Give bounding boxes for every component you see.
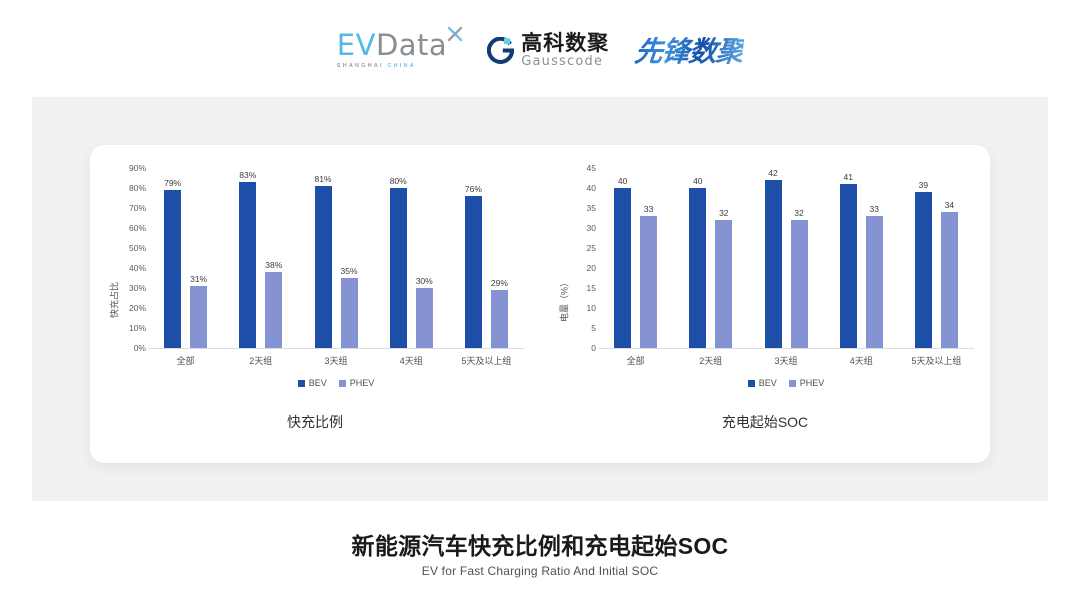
slide-page: EVData SHANGHAI CHINA 高科数聚 Gausscode xyxy=(0,0,1080,608)
chart-1-legend-item-bev[interactable]: BEV xyxy=(748,378,777,388)
chart-1-x-axis-line xyxy=(598,348,974,349)
chart-1-bar-value-label: 40 xyxy=(693,177,702,186)
chart-0-bar-rect[interactable] xyxy=(315,186,332,348)
chart-0-y-tick: 90% xyxy=(129,164,146,173)
chart-1-bar-group: 3934 xyxy=(899,168,974,348)
chart-1-bar-rect[interactable] xyxy=(640,216,657,348)
chart-0-bar-group: 81%35% xyxy=(298,168,373,348)
page-subtitle: EV for Fast Charging Ratio And Initial S… xyxy=(0,564,1080,578)
legend-swatch-icon xyxy=(298,380,305,387)
x-mark-icon xyxy=(447,26,463,42)
evdata-tagline: SHANGHAI CHINA xyxy=(337,64,416,70)
chart-1-x-tick: 全部 xyxy=(598,354,673,367)
chart-1-bar-rect[interactable] xyxy=(614,188,631,348)
chart-0-bar-bev[interactable]: 79% xyxy=(164,168,181,348)
chart-1-legend-label: BEV xyxy=(759,378,777,388)
chart-0-bar-value-label: 29% xyxy=(491,279,508,288)
evdata-wordmark: EVData xyxy=(337,31,447,60)
chart-initial-soc: 电量（%） 454035302520151050 403340324232413… xyxy=(540,150,990,450)
chart-0-bar-group: 79%31% xyxy=(148,168,223,348)
chart-0-bar-phev[interactable]: 35% xyxy=(341,168,358,348)
chart-0-legend-item-bev[interactable]: BEV xyxy=(298,378,327,388)
chart-0-y-tick: 10% xyxy=(129,324,146,333)
footer: 新能源汽车快充比例和充电起始SOC EV for Fast Charging R… xyxy=(0,533,1080,578)
chart-1-bar-value-label: 40 xyxy=(618,177,627,186)
evdata-data-text: Data xyxy=(376,28,447,62)
chart-1-bar-rect[interactable] xyxy=(765,180,782,348)
chart-0-y-tick: 70% xyxy=(129,204,146,213)
chart-0-bar-group: 83%38% xyxy=(223,168,298,348)
logo-bar: EVData SHANGHAI CHINA 高科数聚 Gausscode xyxy=(0,22,1080,78)
legend-swatch-icon xyxy=(748,380,755,387)
page-title: 新能源汽车快充比例和充电起始SOC xyxy=(0,533,1080,559)
legend-swatch-icon xyxy=(789,380,796,387)
gausscode-en-name: Gausscode xyxy=(521,55,603,68)
chart-1-bar-value-label: 32 xyxy=(794,209,803,218)
evdata-tagline-country: CHINA xyxy=(387,63,415,69)
chart-0-x-tick: 2天组 xyxy=(223,354,298,367)
chart-1-bar-value-label: 39 xyxy=(919,181,928,190)
chart-1-bar-rect[interactable] xyxy=(791,220,808,348)
chart-0-y-tick: 0% xyxy=(134,344,146,353)
chart-1-y-tick: 15 xyxy=(587,284,596,293)
chart-0-legend-label: BEV xyxy=(309,378,327,388)
chart-1-bar-bev[interactable]: 40 xyxy=(614,168,631,348)
chart-1-bar-group: 4133 xyxy=(824,168,899,348)
chart-0-bar-value-label: 38% xyxy=(265,261,282,270)
chart-1-bar-bev[interactable]: 42 xyxy=(765,168,782,348)
chart-0-bar-value-label: 83% xyxy=(239,171,256,180)
chart-1-bar-group: 4033 xyxy=(598,168,673,348)
charts-row: 快充占比 90%80%70%60%50%40%30%20%10%0% 79%31… xyxy=(90,150,990,450)
chart-1-plot-area: 40334032423241333934 xyxy=(598,168,974,348)
chart-0-bar-value-label: 79% xyxy=(164,179,181,188)
chart-0-bar-rect[interactable] xyxy=(164,190,181,348)
chart-1-bar-phev[interactable]: 33 xyxy=(866,168,883,348)
chart-1-bar-bev[interactable]: 39 xyxy=(915,168,932,348)
chart-0-y-tick: 30% xyxy=(129,284,146,293)
chart-0-plot-area: 79%31%83%38%81%35%80%30%76%29% xyxy=(148,168,524,348)
chart-1-bar-value-label: 34 xyxy=(945,201,954,210)
chart-0-bar-value-label: 35% xyxy=(340,267,357,276)
chart-0-x-tick: 全部 xyxy=(148,354,223,367)
chart-0-bar-value-label: 31% xyxy=(190,275,207,284)
chart-1-y-tick: 45 xyxy=(587,164,596,173)
chart-0-bar-bev[interactable]: 76% xyxy=(465,168,482,348)
chart-0-bar-rect[interactable] xyxy=(390,188,407,348)
chart-1-bar-rect[interactable] xyxy=(866,216,883,348)
legend-swatch-icon xyxy=(339,380,346,387)
chart-1-bar-group: 4032 xyxy=(673,168,748,348)
logo-xianfeng: 先锋数聚 xyxy=(633,30,745,70)
chart-0-x-tick: 3天组 xyxy=(298,354,373,367)
chart-0-y-tick: 20% xyxy=(129,304,146,313)
chart-0-bar-group: 80%30% xyxy=(374,168,449,348)
chart-1-y-tick: 25 xyxy=(587,244,596,253)
chart-1-bar-rect[interactable] xyxy=(689,188,706,348)
chart-0-x-axis-line xyxy=(148,348,524,349)
chart-1-y-tick: 20 xyxy=(587,264,596,273)
chart-1-bar-rect[interactable] xyxy=(915,192,932,348)
chart-1-legend: BEVPHEV xyxy=(598,378,974,388)
chart-1-x-tick: 5天及以上组 xyxy=(899,354,974,367)
chart-0-bar-rect[interactable] xyxy=(341,278,358,348)
chart-1-bar-bev[interactable]: 40 xyxy=(689,168,706,348)
chart-0-bar-rect[interactable] xyxy=(190,286,207,348)
logo-evdata: EVData SHANGHAI CHINA xyxy=(337,31,461,70)
chart-1-legend-item-phev[interactable]: PHEV xyxy=(789,378,825,388)
chart-1-bar-value-label: 32 xyxy=(719,209,728,218)
chart-1-bar-phev[interactable]: 34 xyxy=(941,168,958,348)
chart-0-caption: 快充比例 xyxy=(90,412,540,432)
chart-0-bar-bev[interactable]: 81% xyxy=(315,168,332,348)
chart-0-bar-rect[interactable] xyxy=(239,182,256,348)
chart-0-x-tick: 4天组 xyxy=(374,354,449,367)
chart-1-bar-phev[interactable]: 32 xyxy=(791,168,808,348)
chart-0-bar-value-label: 76% xyxy=(465,185,482,194)
chart-0-legend: BEVPHEV xyxy=(148,378,524,388)
chart-0-bar-phev[interactable]: 38% xyxy=(265,168,282,348)
gausscode-text: 高科数聚 Gausscode xyxy=(521,33,609,68)
chart-1-bar-bev[interactable]: 41 xyxy=(840,168,857,348)
chart-0-x-tick-labels: 全部2天组3天组4天组5天及以上组 xyxy=(148,354,524,367)
chart-0-bar-rect[interactable] xyxy=(465,196,482,348)
chart-1-x-tick: 2天组 xyxy=(673,354,748,367)
chart-0-bar-phev[interactable]: 31% xyxy=(190,168,207,348)
chart-0-bar-value-label: 80% xyxy=(390,177,407,186)
evdata-tagline-city: SHANGHAI xyxy=(337,63,384,69)
chart-1-y-tick: 40 xyxy=(587,184,596,193)
chart-1-y-tick: 35 xyxy=(587,204,596,213)
logo-gausscode: 高科数聚 Gausscode xyxy=(487,33,609,68)
chart-0-legend-item-phev[interactable]: PHEV xyxy=(339,378,375,388)
chart-0-bar-bev[interactable]: 80% xyxy=(390,168,407,348)
chart-1-bar-value-label: 33 xyxy=(644,205,653,214)
chart-1-caption: 充电起始SOC xyxy=(540,412,990,432)
chart-1-y-tick: 5 xyxy=(591,324,596,333)
chart-1-x-tick-labels: 全部2天组3天组4天组5天及以上组 xyxy=(598,354,974,367)
chart-1-x-tick: 3天组 xyxy=(748,354,823,367)
chart-1-bar-group: 4232 xyxy=(748,168,823,348)
chart-0-y-tick: 80% xyxy=(129,184,146,193)
chart-0-y-tick: 50% xyxy=(129,244,146,253)
evdata-ev-text: EV xyxy=(337,28,376,62)
chart-0-y-tick: 60% xyxy=(129,224,146,233)
chart-fast-charging-ratio: 快充占比 90%80%70%60%50%40%30%20%10%0% 79%31… xyxy=(90,150,540,450)
chart-1-y-tick: 0 xyxy=(591,344,596,353)
chart-1-y-tick-labels: 454035302520151050 xyxy=(562,168,596,348)
chart-0-legend-label: PHEV xyxy=(350,378,375,388)
chart-0-bar-phev[interactable]: 29% xyxy=(491,168,508,348)
chart-0-bar-rect[interactable] xyxy=(491,290,508,348)
chart-0-x-tick: 5天及以上组 xyxy=(449,354,524,367)
chart-0-y-tick-labels: 90%80%70%60%50%40%30%20%10%0% xyxy=(112,168,146,348)
chart-1-legend-label: PHEV xyxy=(800,378,825,388)
gausscode-c-mark-icon xyxy=(487,37,514,64)
chart-1-bar-rect[interactable] xyxy=(840,184,857,348)
chart-1-y-tick: 30 xyxy=(587,224,596,233)
chart-1-bar-value-label: 42 xyxy=(768,169,777,178)
chart-0-bar-value-label: 30% xyxy=(416,277,433,286)
chart-1-bar-value-label: 33 xyxy=(869,205,878,214)
chart-0-bar-group: 76%29% xyxy=(449,168,524,348)
chart-0-y-tick: 40% xyxy=(129,264,146,273)
chart-1-bar-rect[interactable] xyxy=(941,212,958,348)
gausscode-cn-name: 高科数聚 xyxy=(521,33,609,54)
chart-1-bar-phev[interactable]: 32 xyxy=(715,168,732,348)
chart-0-bar-rect[interactable] xyxy=(265,272,282,348)
chart-1-bar-value-label: 41 xyxy=(843,173,852,182)
chart-0-bar-value-label: 81% xyxy=(314,175,331,184)
chart-0-bar-bev[interactable]: 83% xyxy=(239,168,256,348)
chart-1-bar-rect[interactable] xyxy=(715,220,732,348)
chart-0-bar-phev[interactable]: 30% xyxy=(416,168,433,348)
chart-0-bar-rect[interactable] xyxy=(416,288,433,348)
chart-1-bar-phev[interactable]: 33 xyxy=(640,168,657,348)
chart-1-x-tick: 4天组 xyxy=(824,354,899,367)
chart-1-y-tick: 10 xyxy=(587,304,596,313)
